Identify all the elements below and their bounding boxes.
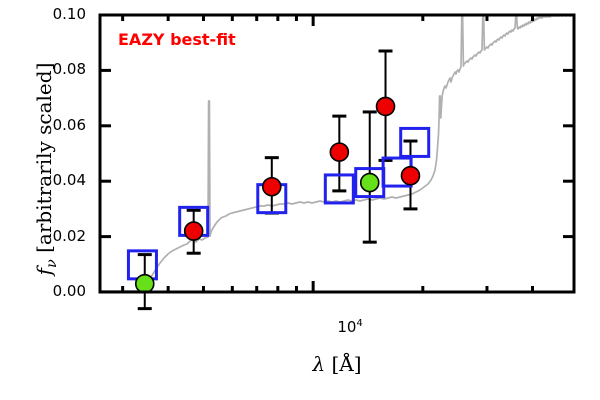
photometry-point-marker xyxy=(361,174,379,192)
x-axis-title: λ [Å] xyxy=(100,352,574,376)
photometry-point-marker xyxy=(263,178,281,196)
figure-canvas: 0.00 0.02 0.04 0.06 0.08 0.10 104 λ [Å] … xyxy=(0,0,600,400)
photometry-point-marker xyxy=(377,97,395,115)
data-markers-layer xyxy=(128,51,428,309)
y-axis-subscript: ν xyxy=(44,259,60,268)
photometry-point-marker xyxy=(330,143,348,161)
xtick-label-1e4: 104 xyxy=(320,318,380,336)
xtick-exponent: 4 xyxy=(356,318,362,329)
photometry-point-marker xyxy=(136,275,154,293)
annotation-eazy-best-fit: EAZY best-fit xyxy=(118,30,236,49)
y-axis-unit: [arbitrarily scaled] xyxy=(32,63,56,260)
y-axis-title: fν [arbitrarily scaled] xyxy=(32,19,60,319)
x-axis-symbol: λ xyxy=(312,352,325,376)
photometry-point-marker xyxy=(401,167,419,185)
scatter-plot xyxy=(0,0,600,400)
x-axis-unit: [Å] xyxy=(331,352,361,376)
y-axis-symbol: f xyxy=(32,268,56,275)
xtick-mantissa: 10 xyxy=(337,318,356,336)
photometry-point-marker xyxy=(185,222,203,240)
